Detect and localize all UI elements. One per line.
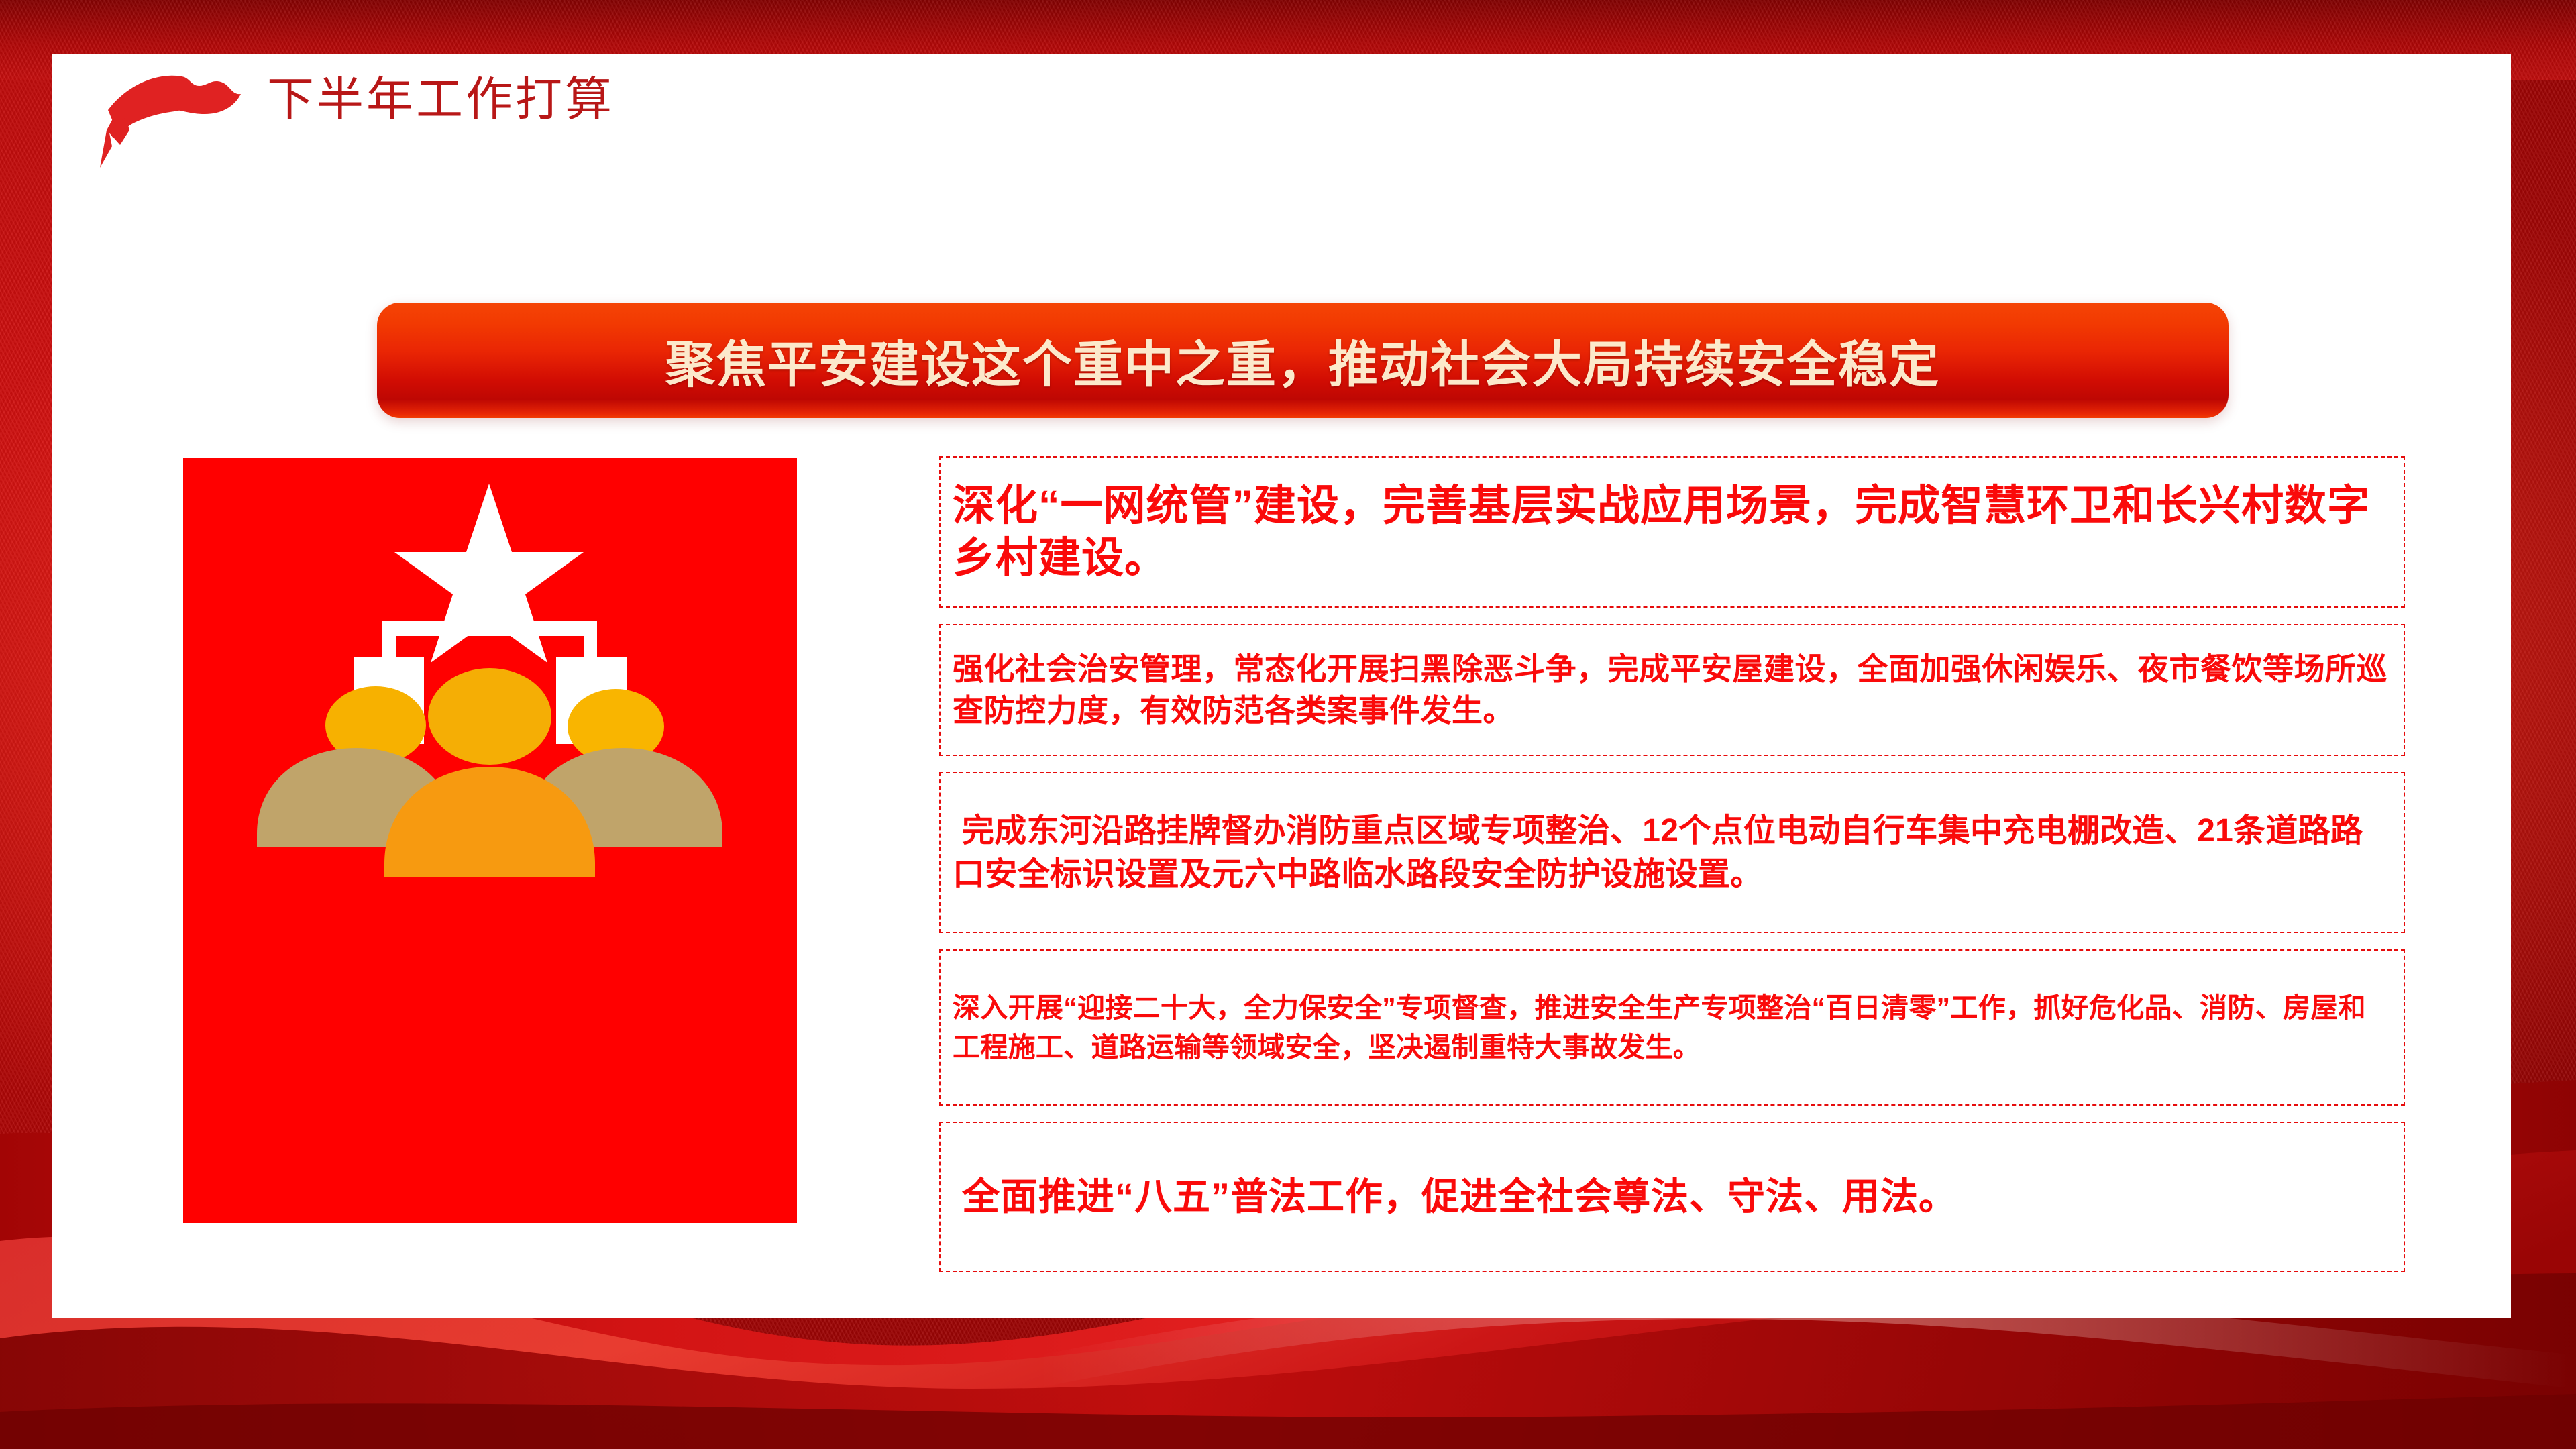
slide-header: 下半年工作打算: [52, 54, 2511, 195]
section-banner-title: 聚焦平安建设这个重中之重，推动社会大局持续安全稳定: [665, 325, 1940, 396]
team-org-chart-illustration: [183, 458, 797, 1223]
slide-card: 下半年工作打算 聚焦平安建设这个重中之重，推动社会大局持续安全稳定: [52, 54, 2511, 1318]
content-box-3: 完成东河沿路挂牌督办消防重点区域专项整治、12个点位电动自行车集中充电棚改造、2…: [939, 772, 2405, 933]
content-box-4-text: 深入开展“迎接二十大，全力保安全”专项督查，推进安全生产专项整治“百日清零”工作…: [953, 988, 2392, 1066]
content-box-3-text: 完成东河沿路挂牌督办消防重点区域专项整治、12个点位电动自行车集中充电棚改造、2…: [953, 809, 2392, 897]
content-box-5: 全面推进“八五”普法工作，促进全社会尊法、守法、用法。: [939, 1122, 2405, 1272]
content-box-2: 强化社会治安管理，常态化开展扫黑除恶斗争，完成平安屋建设，全面加强休闲娱乐、夜市…: [939, 624, 2405, 756]
illustration-panel: [183, 458, 797, 1223]
content-box-2-text: 强化社会治安管理，常态化开展扫黑除恶斗争，完成平安屋建设，全面加强休闲娱乐、夜市…: [953, 649, 2392, 731]
head-center: [428, 668, 551, 765]
content-list: 深化“一网统管”建设，完善基层实战应用场景，完成智慧环卫和长兴村数字乡村建设。 …: [939, 456, 2405, 1288]
content-box-5-text: 全面推进“八五”普法工作，促进全社会尊法、守法、用法。: [953, 1173, 1957, 1222]
red-flag-icon: [89, 66, 250, 180]
content-box-1-text: 深化“一网统管”建设，完善基层实战应用场景，完成智慧环卫和长兴村数字乡村建设。: [953, 480, 2392, 584]
content-box-4: 深入开展“迎接二十大，全力保安全”专项督查，推进安全生产专项整治“百日清零”工作…: [939, 949, 2405, 1106]
section-banner: 聚焦平安建设这个重中之重，推动社会大局持续安全稳定: [377, 303, 2229, 418]
content-box-1: 深化“一网统管”建设，完善基层实战应用场景，完成智慧环卫和长兴村数字乡村建设。: [939, 456, 2405, 608]
page-title: 下半年工作打算: [267, 77, 614, 124]
